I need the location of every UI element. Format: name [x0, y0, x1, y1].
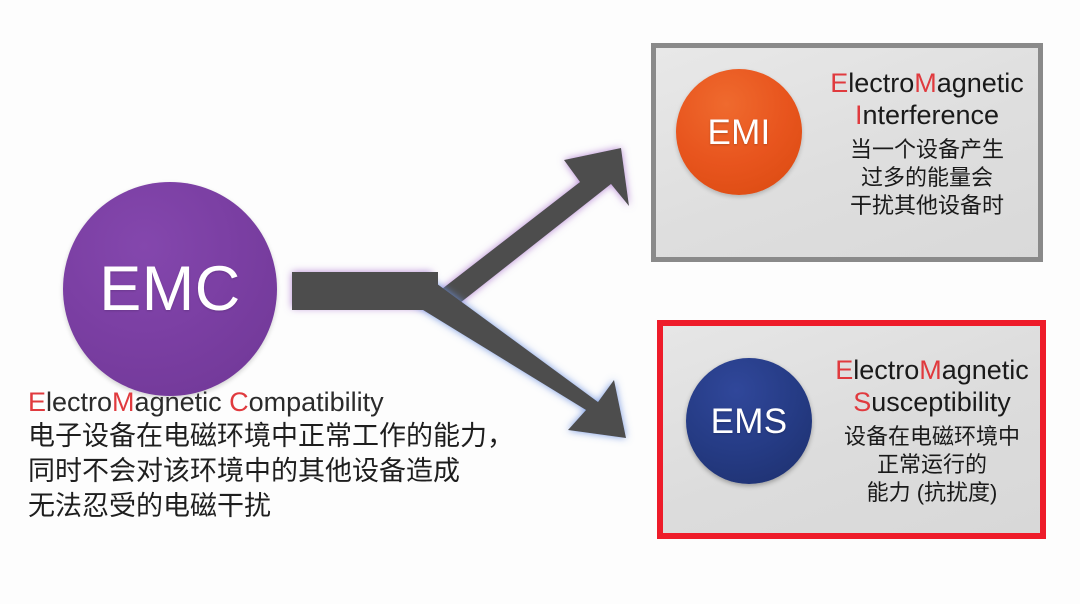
emi-heading-line-1: ElectroMagnetic [811, 68, 1043, 100]
emc-title: ElectroMagnetic Compatibility [28, 386, 548, 419]
emc-description-line-3: 无法忍受的电磁干扰 [28, 489, 548, 524]
ems-circle: EMS [686, 358, 812, 484]
emc-caption: ElectroMagnetic Compatibility 电子设备在电磁环境中… [28, 386, 548, 524]
emc-description-line-2: 同时不会对该环境中的其他设备造成 [28, 454, 548, 489]
emi-text-block: ElectroMagnetic Interference 当一个设备产生 过多的… [811, 68, 1043, 220]
ems-panel: EMS ElectroMagnetic Susceptibility 设备在电磁… [657, 320, 1046, 539]
emc-description-line-1: 电子设备在电磁环境中正常工作的能力， [28, 419, 548, 454]
emc-circle: EMC [63, 182, 277, 396]
diagram-canvas: EMC ElectroMagnetic Compatibility 电子设备在电… [0, 0, 1080, 604]
emi-heading-line-2: Interference [811, 100, 1043, 132]
ems-description-line-2: 正常运行的 [815, 451, 1046, 479]
ems-heading-line-2: Susceptibility [815, 387, 1046, 419]
arrow-stem [292, 272, 438, 310]
emi-description-line-1: 当一个设备产生 [811, 136, 1043, 164]
emi-circle: EMI [676, 69, 802, 195]
emc-circle-label: EMC [99, 258, 241, 321]
ems-text-block: ElectroMagnetic Susceptibility 设备在电磁环境中 … [815, 355, 1046, 507]
ems-description-line-3: 能力 (抗扰度) [815, 479, 1046, 507]
emi-panel: EMI ElectroMagnetic Interference 当一个设备产生… [651, 43, 1043, 262]
ems-description-line-1: 设备在电磁环境中 [815, 423, 1046, 451]
emi-description: 当一个设备产生 过多的能量会 干扰其他设备时 [811, 136, 1043, 220]
ems-circle-label: EMS [711, 404, 788, 439]
emi-description-line-2: 过多的能量会 [811, 164, 1043, 192]
emi-circle-label: EMI [707, 115, 770, 150]
emi-description-line-3: 干扰其他设备时 [811, 192, 1043, 220]
ems-heading-line-1: ElectroMagnetic [815, 355, 1046, 387]
ems-description: 设备在电磁环境中 正常运行的 能力 (抗扰度) [815, 423, 1046, 507]
